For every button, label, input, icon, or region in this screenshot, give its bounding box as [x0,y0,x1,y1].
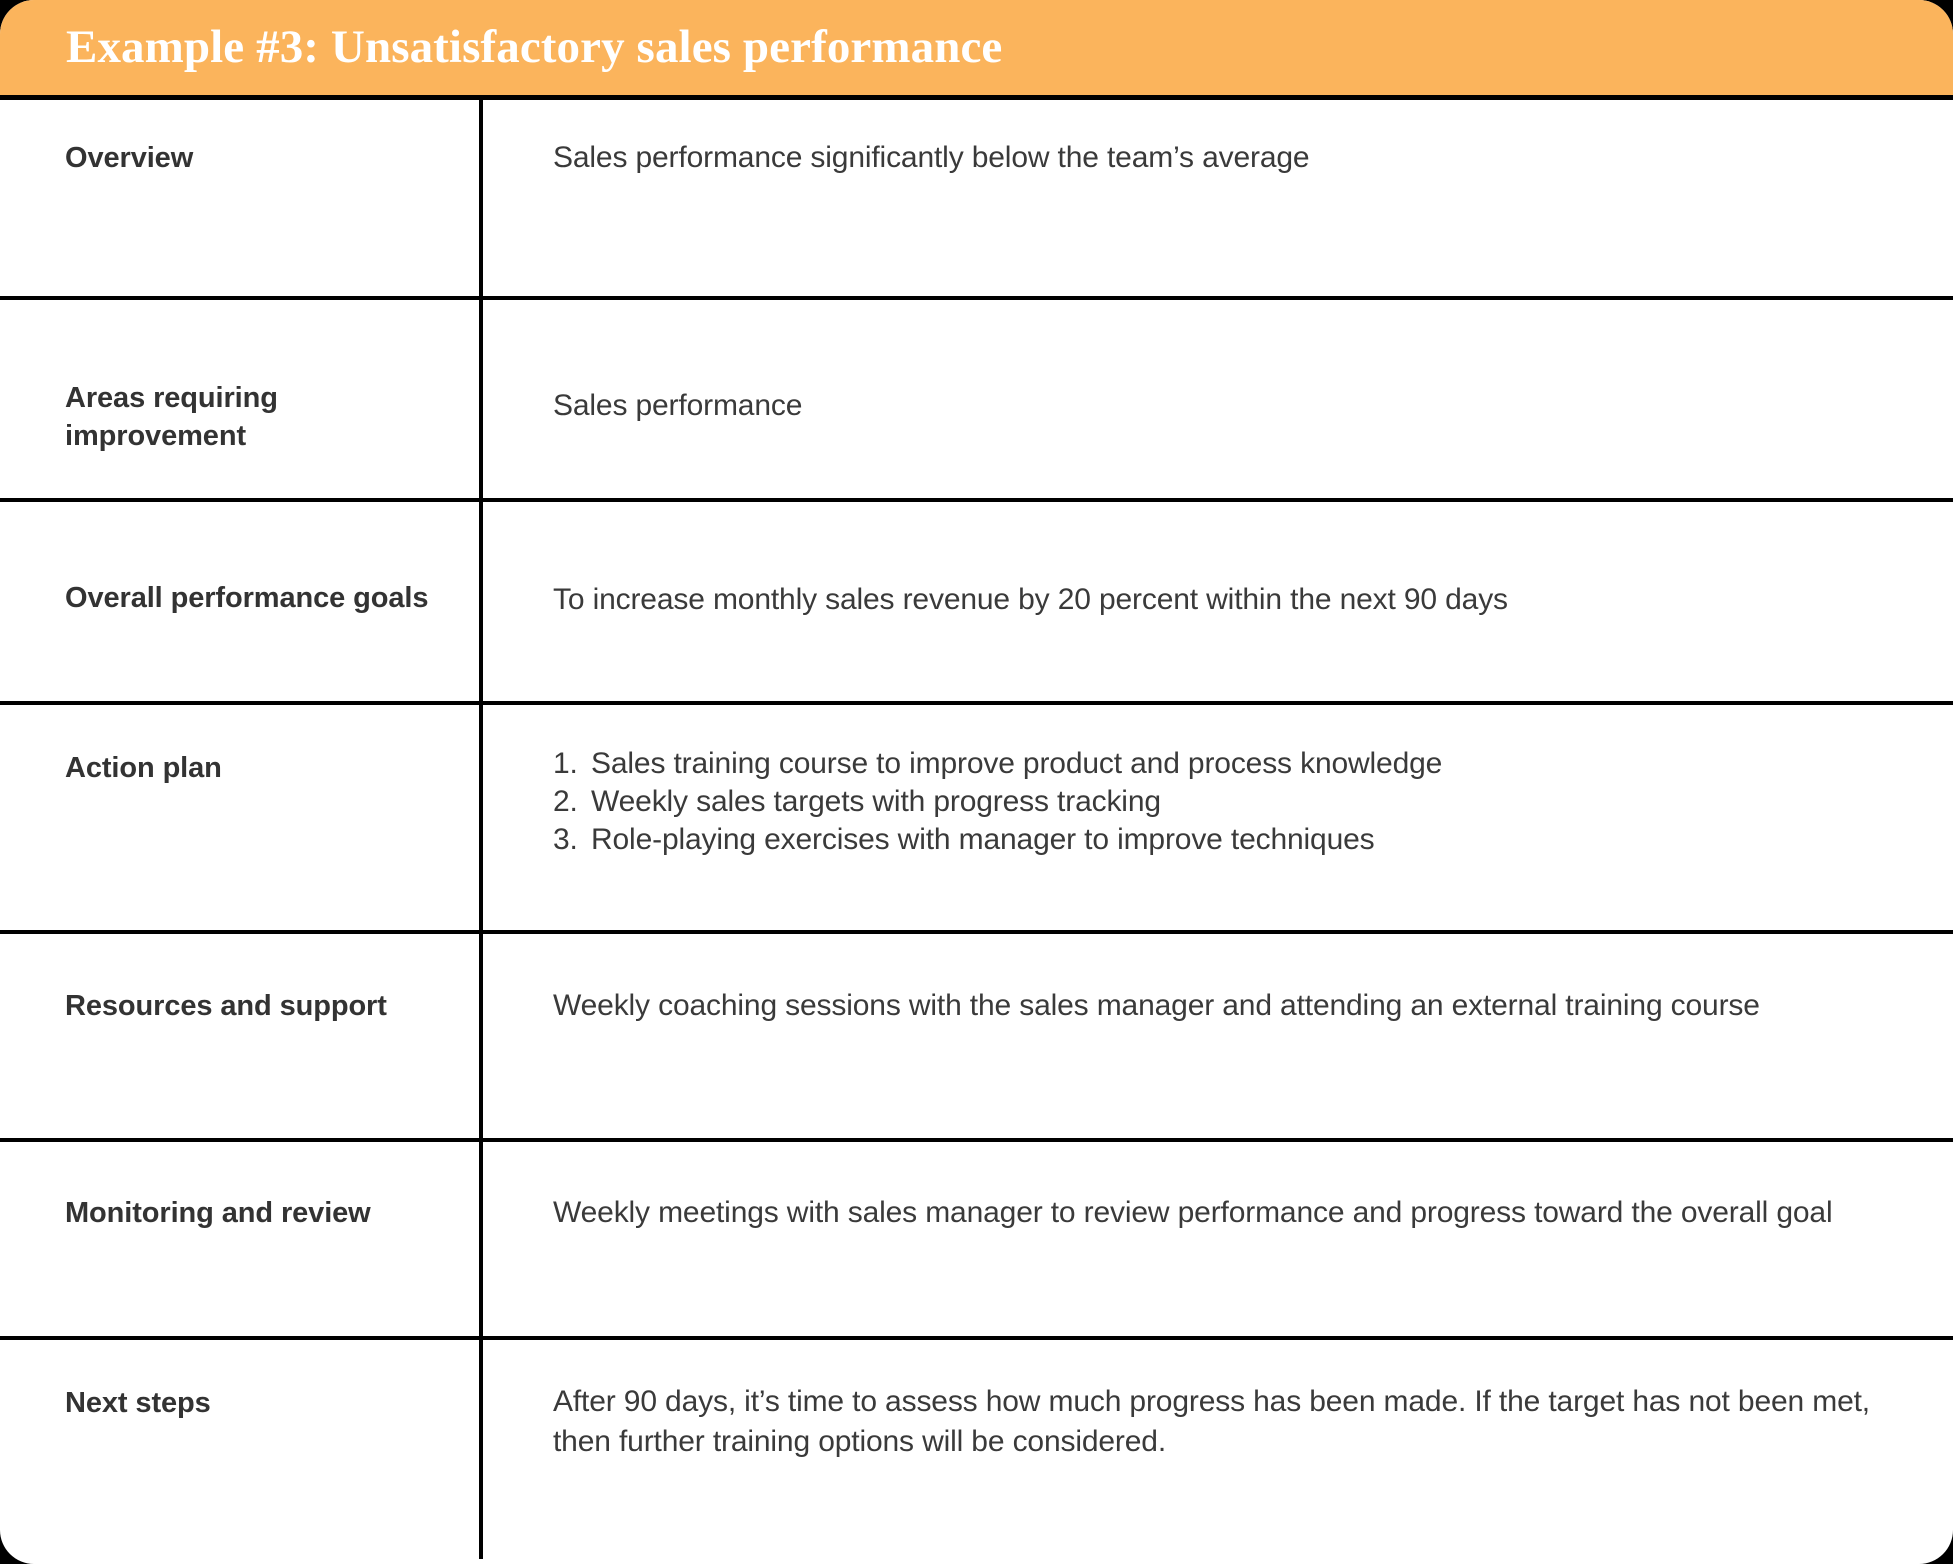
list-item: 1. Sales training course to improve prod… [553,745,1899,783]
row-value-action-plan: 1. Sales training course to improve prod… [483,705,1953,858]
row-label-action-plan: Action plan [0,705,483,930]
row-value-monitoring-and-review: Weekly meetings with sales manager to re… [483,1142,1953,1233]
list-item-text: Role-playing exercises with manager to i… [591,821,1899,859]
card-header: Example #3: Unsatisfactory sales perform… [0,0,1953,100]
row-value-resources-and-support: Weekly coaching sessions with the sales … [483,934,1953,1026]
list-item-number: 1. [553,745,591,783]
action-plan-list: 1. Sales training course to improve prod… [553,745,1899,858]
list-item-text: Weekly sales targets with progress track… [591,783,1899,821]
page-title: Example #3: Unsatisfactory sales perform… [66,24,1002,71]
list-item-number: 2. [553,783,591,821]
pip-table: Overview Sales performance significantly… [0,100,1953,1559]
list-item-number: 3. [553,821,591,859]
row-label-monitoring-and-review: Monitoring and review [0,1142,483,1336]
row-value-overall-performance-goals: To increase monthly sales revenue by 20 … [483,502,1953,620]
table-row: Action plan 1. Sales training course to … [0,705,1953,934]
list-item-text: Sales training course to improve product… [591,745,1899,783]
performance-improvement-plan-card: Example #3: Unsatisfactory sales perform… [0,0,1953,1564]
row-label-overall-performance-goals: Overall performance goals [0,502,483,701]
table-row: Overall performance goals To increase mo… [0,502,1953,705]
list-item: 2. Weekly sales targets with progress tr… [553,783,1899,821]
row-label-areas-requiring-improvement: Areas requiring improvement [0,300,483,498]
table-row: Areas requiring improvement Sales perfor… [0,300,1953,502]
row-label-next-steps: Next steps [0,1340,483,1559]
table-row: Monitoring and review Weekly meetings wi… [0,1142,1953,1340]
table-row: Overview Sales performance significantly… [0,100,1953,300]
row-value-overview: Sales performance significantly below th… [483,100,1953,178]
row-value-next-steps: After 90 days, it’s time to assess how m… [483,1340,1953,1461]
row-label-resources-and-support: Resources and support [0,934,483,1138]
table-row: Next steps After 90 days, it’s time to a… [0,1340,1953,1559]
row-label-overview: Overview [0,100,483,296]
table-row: Resources and support Weekly coaching se… [0,934,1953,1142]
row-value-areas-requiring-improvement: Sales performance [483,300,1953,426]
list-item: 3. Role-playing exercises with manager t… [553,821,1899,859]
